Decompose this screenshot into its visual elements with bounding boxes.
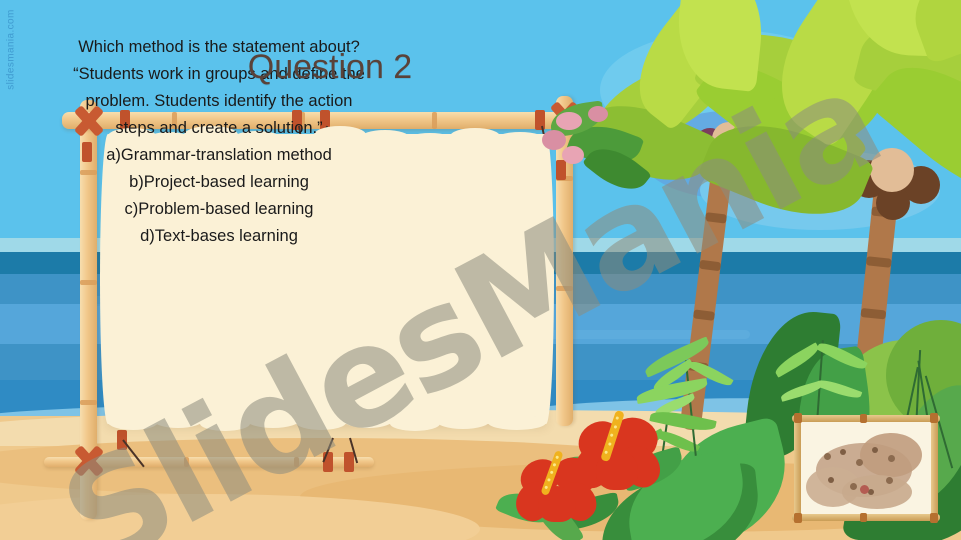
pink-flower	[588, 106, 608, 122]
map-frame-lashing	[930, 513, 938, 523]
pink-flower	[542, 130, 566, 150]
map-frame-lashing	[860, 513, 867, 522]
answer-option-b[interactable]: b)Project-based learning	[18, 169, 420, 196]
grass-blade	[635, 378, 708, 404]
pink-flower	[562, 146, 584, 164]
map-frame-bar	[794, 413, 801, 523]
pink-flower	[556, 112, 582, 130]
treasure-map-picture[interactable]	[792, 413, 940, 523]
map-frame-lashing	[930, 413, 938, 423]
question-line: steps and create a solution.”	[18, 115, 420, 142]
map-frame-lashing	[794, 513, 802, 523]
map-frame-bar	[931, 413, 938, 523]
map-paper	[798, 419, 934, 517]
parchment-torn-bottom	[108, 418, 546, 434]
grass-blade	[642, 336, 712, 377]
page-title: Question 2	[0, 48, 660, 87]
answer-option-c[interactable]: c)Problem-based learning	[18, 196, 420, 223]
flowering-vine	[540, 96, 650, 216]
answer-option-a[interactable]: a)Grammar-translation method	[18, 142, 420, 169]
hibiscus-flower	[512, 444, 612, 536]
map-frame-lashing	[860, 414, 867, 423]
slide-canvas: SlidesMania Which method is the statemen…	[0, 0, 961, 540]
rope-lashing	[72, 444, 106, 478]
map-frame-lashing	[794, 413, 802, 423]
watermark-side-url: slidesmania.com	[6, 0, 17, 105]
answer-option-d[interactable]: d)Text-bases learning	[18, 223, 420, 250]
rope-band	[344, 452, 354, 472]
coconut	[870, 148, 914, 192]
question-line: problem. Students identify the action	[18, 88, 420, 115]
